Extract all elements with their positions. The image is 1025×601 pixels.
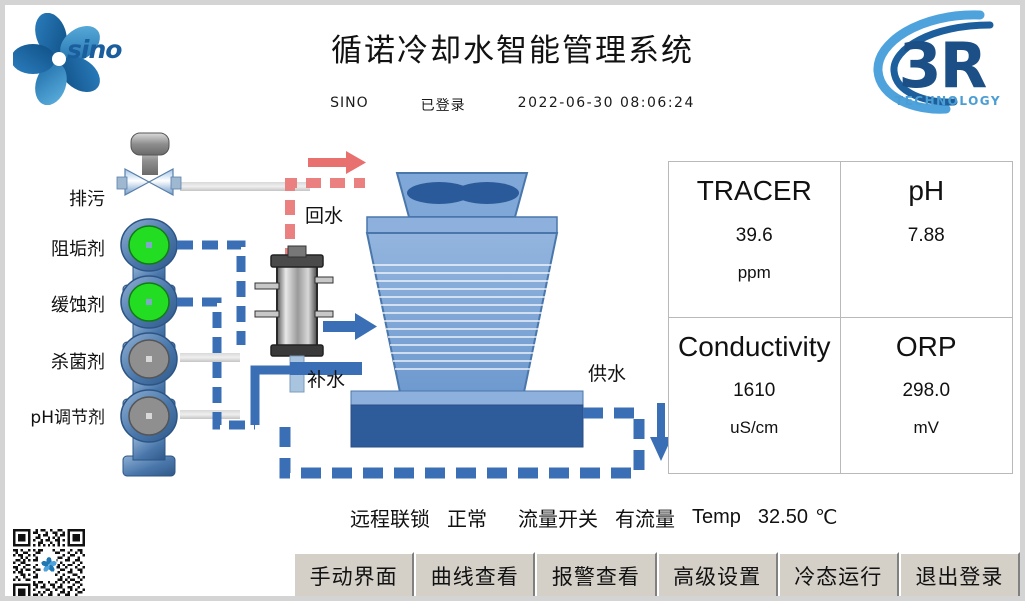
reading-ph-value: 7.88 [908, 225, 945, 247]
reading-conductivity: Conductivity 1610 uS/cm [669, 318, 841, 474]
reading-tracer-value: 39.6 [736, 225, 773, 247]
advanced-settings-button[interactable]: 高级设置 [657, 552, 778, 600]
cold-run-button[interactable]: 冷态运行 [778, 552, 899, 600]
logout-button[interactable]: 退出登录 [899, 552, 1020, 600]
reading-conductivity-value: 1610 [733, 380, 775, 402]
alarm-view-button[interactable]: 报警查看 [535, 552, 656, 600]
pipe-biocide-horizontal [180, 353, 240, 362]
curve-view-button[interactable]: 曲线查看 [414, 552, 535, 600]
reading-tracer-name: TRACER [697, 176, 812, 207]
flow-label-return: 回水 [305, 201, 343, 228]
current-user: SINO [330, 95, 369, 115]
flow-switch-label: 流量开关 [518, 503, 598, 532]
reading-orp: ORP 298.0 mV [841, 318, 1013, 474]
reading-orp-value: 298.0 [902, 380, 950, 402]
reading-conductivity-name: Conductivity [678, 332, 831, 363]
remote-interlock-label: 远程联锁 [350, 503, 430, 532]
dosing-pump-ph-adjuster[interactable] [121, 390, 177, 476]
temp-value: 32.50 [758, 506, 808, 529]
flow-switch-value: 有流量 [615, 503, 675, 532]
qr-code-icon [10, 529, 88, 601]
flow-label-supply: 供水 [588, 359, 626, 386]
temp-unit: ℃ [815, 505, 837, 530]
pipe-ph-horizontal [180, 410, 240, 419]
return-flow-arrow-icon [308, 151, 366, 174]
temp-label: Temp [692, 506, 741, 529]
3r-technology-logo-icon: 3R TECHNOLOGY [862, 9, 1014, 117]
reading-orp-unit: mV [914, 418, 940, 438]
drain-valve-icon [117, 133, 181, 195]
datetime-display: 2022-06-30 08:06:24 [518, 95, 695, 115]
manual-interface-button[interactable]: 手动界面 [293, 552, 414, 600]
reading-ph-name: pH [908, 176, 944, 207]
reading-ph: pH 7.88 [841, 162, 1013, 318]
reading-conductivity-unit: uS/cm [730, 418, 778, 438]
process-flow-diagram [5, 125, 675, 495]
remote-interlock-value: 正常 [447, 503, 487, 532]
svg-text:3R: 3R [899, 29, 987, 102]
flow-label-makeup: 补水 [307, 365, 345, 392]
login-status: 已登录 [421, 95, 466, 115]
reading-tracer-unit: ppm [738, 263, 771, 283]
cooling-tower [351, 173, 583, 447]
application-window: sino 循诺冷却水智能管理系统 SINO 已登录 2022-06-30 08:… [0, 0, 1025, 601]
toolbar: 手动界面 曲线查看 报警查看 高级设置 冷态运行 退出登录 [293, 551, 1020, 600]
status-bar: 远程联锁 正常 流量开关 有流量 Temp 32.50 ℃ [350, 497, 1020, 537]
reading-tracer: TRACER 39.6 ppm [669, 162, 841, 318]
svg-text:TECHNOLOGY: TECHNOLOGY [895, 94, 1001, 108]
reading-orp-name: ORP [896, 332, 957, 363]
header-bar: sino 循诺冷却水智能管理系统 SINO 已登录 2022-06-30 08:… [5, 5, 1020, 127]
pipe-chemical-feed-1 [177, 245, 241, 345]
measurements-panel: TRACER 39.6 ppm pH 7.88 Conductivity 161… [668, 161, 1013, 474]
